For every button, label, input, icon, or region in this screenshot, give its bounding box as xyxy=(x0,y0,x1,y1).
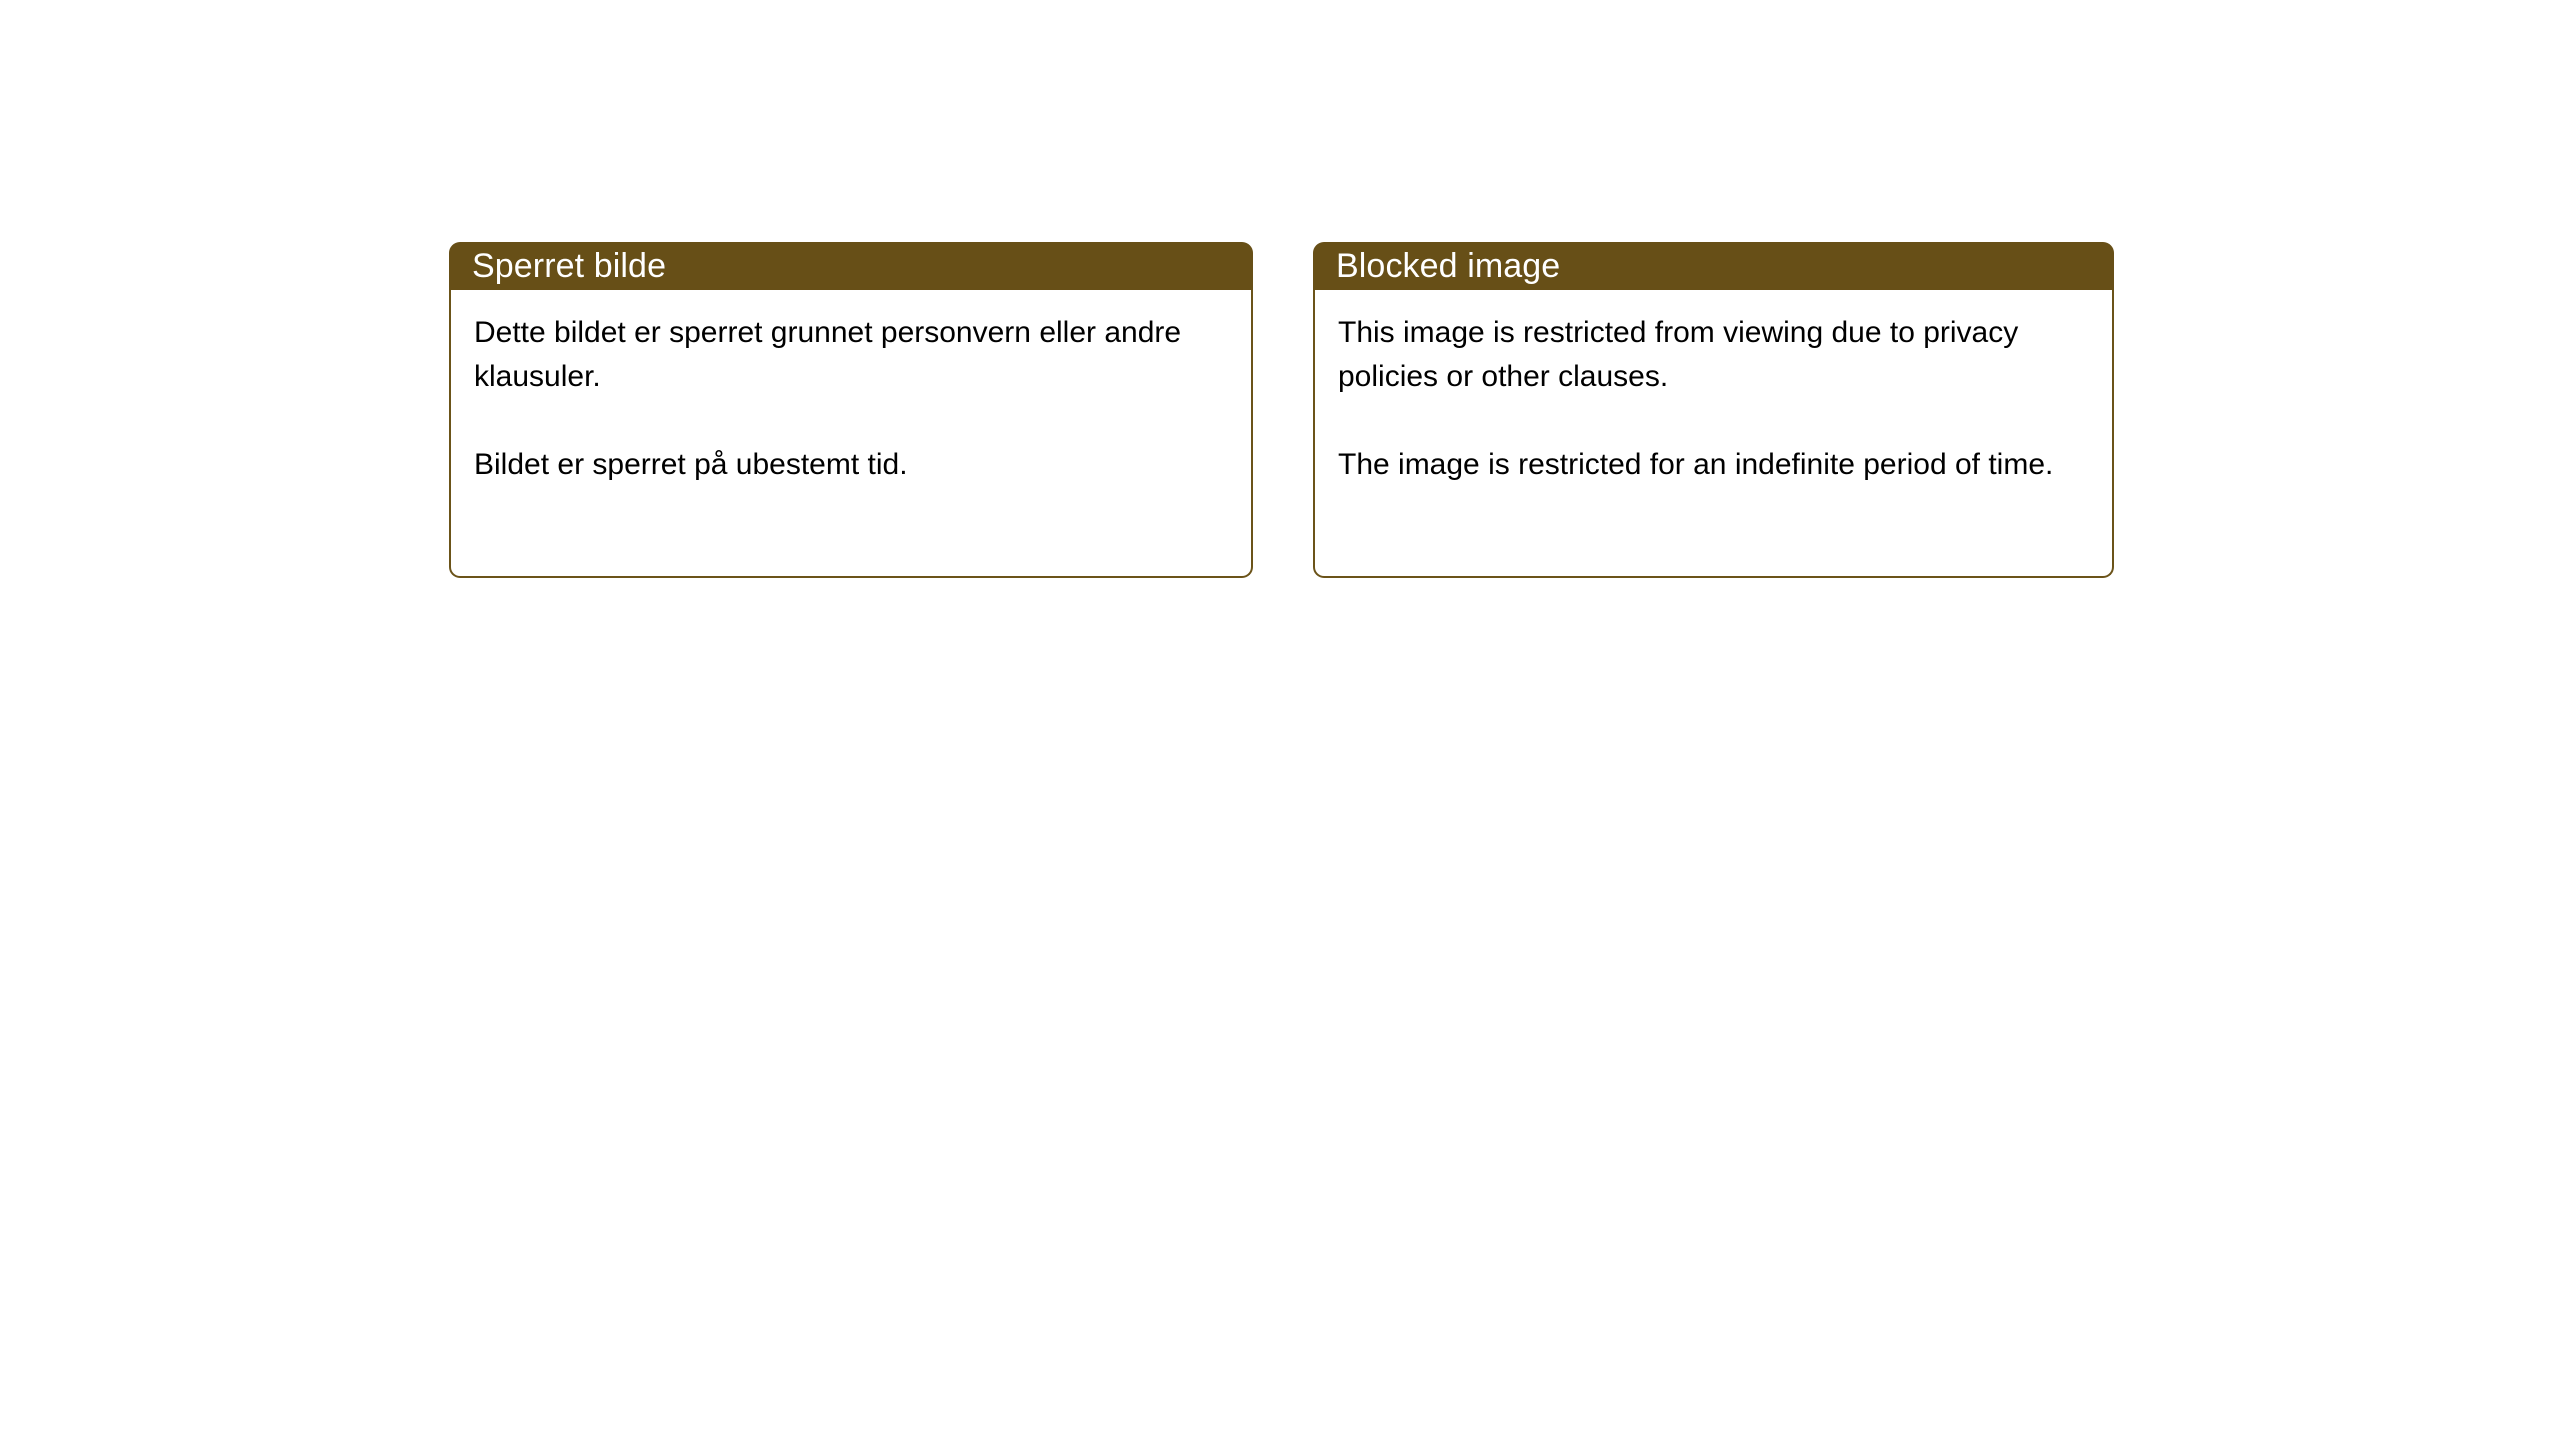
notice-paragraph-primary-norwegian: Dette bildet er sperret grunnet personve… xyxy=(474,311,1229,399)
page-canvas: Sperret bilde Dette bildet er sperret gr… xyxy=(0,0,2560,1440)
notice-title-norwegian: Sperret bilde xyxy=(449,249,666,283)
blocked-image-notice-norwegian: Sperret bilde Dette bildet er sperret gr… xyxy=(449,242,1253,578)
paragraph-spacer xyxy=(474,399,1229,443)
notice-title-english: Blocked image xyxy=(1313,249,1560,283)
notice-paragraph-primary-english: This image is restricted from viewing du… xyxy=(1338,311,2090,399)
notice-body-english: This image is restricted from viewing du… xyxy=(1313,290,2114,578)
notice-body-norwegian: Dette bildet er sperret grunnet personve… xyxy=(449,290,1253,578)
notice-header-norwegian: Sperret bilde xyxy=(449,242,1253,290)
notice-header-english: Blocked image xyxy=(1313,242,2114,290)
notice-paragraph-secondary-norwegian: Bildet er sperret på ubestemt tid. xyxy=(474,443,1229,487)
paragraph-spacer xyxy=(1338,399,2090,443)
notice-paragraph-secondary-english: The image is restricted for an indefinit… xyxy=(1338,443,2090,487)
blocked-image-notice-english: Blocked image This image is restricted f… xyxy=(1313,242,2114,578)
